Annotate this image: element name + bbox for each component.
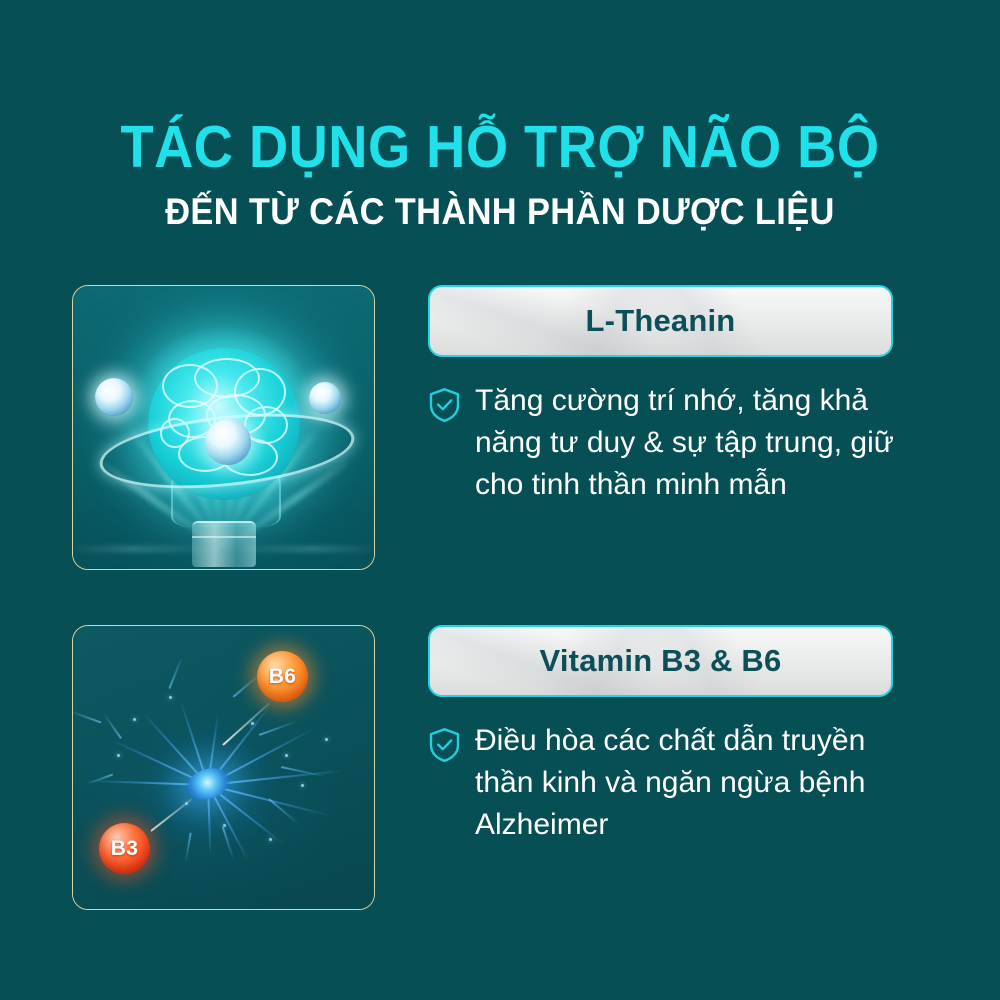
vitamin-badge-b3: B3 <box>99 823 150 874</box>
vitamin-badge-b6-label: B6 <box>269 665 296 689</box>
page-subtitle: ĐẾN TỪ CÁC THÀNH PHẦN DƯỢC LIỆU <box>35 193 965 230</box>
ingredient-description-2: Điều hòa các chất dẫn truyền thần kinh v… <box>475 720 905 846</box>
brain-lightbulb-illustration <box>73 286 374 569</box>
brain-lightbulb-image-frame <box>72 285 375 570</box>
vitamin-badge-b3-label: B3 <box>111 837 138 861</box>
orbit-node-left <box>95 378 133 416</box>
page-title: TÁC DỤNG HỖ TRỢ NÃO BỘ <box>40 118 960 177</box>
ingredient-label-pill-1[interactable]: L-Theanin <box>428 285 893 357</box>
ingredient-label-pill-2[interactable]: Vitamin B3 & B6 <box>428 625 893 697</box>
neuron-image-frame: B6 B3 <box>72 625 375 910</box>
ingredient-description-1: Tăng cường trí nhớ, tăng khả năng tư duy… <box>475 380 905 506</box>
orbit-node-right <box>309 382 341 414</box>
page-header: TÁC DỤNG HỖ TRỢ NÃO BỘ ĐẾN TỪ CÁC THÀNH … <box>0 118 1000 230</box>
leader-line-b6 <box>222 703 269 746</box>
ingredient-card-2: B6 B3 Vitamin B3 & B6 Điều hòa các chất … <box>0 625 1000 915</box>
ingredient-description-block-1: Tăng cường trí nhớ, tăng khả năng tư duy… <box>428 380 908 506</box>
vitamin-badge-b6: B6 <box>257 651 308 702</box>
ingredient-description-block-2: Điều hòa các chất dẫn truyền thần kinh v… <box>428 720 908 846</box>
ingredient-label-2: Vitamin B3 & B6 <box>540 643 782 679</box>
shield-check-icon <box>428 387 461 428</box>
ingredient-label-1: L-Theanin <box>586 303 736 339</box>
orbit-node-center <box>205 419 251 465</box>
neuron-illustration: B6 B3 <box>73 626 374 909</box>
ingredient-card-1: L-Theanin Tăng cường trí nhớ, tăng khả n… <box>0 285 1000 575</box>
leader-line-b3 <box>150 798 192 832</box>
shield-check-icon <box>428 727 461 768</box>
